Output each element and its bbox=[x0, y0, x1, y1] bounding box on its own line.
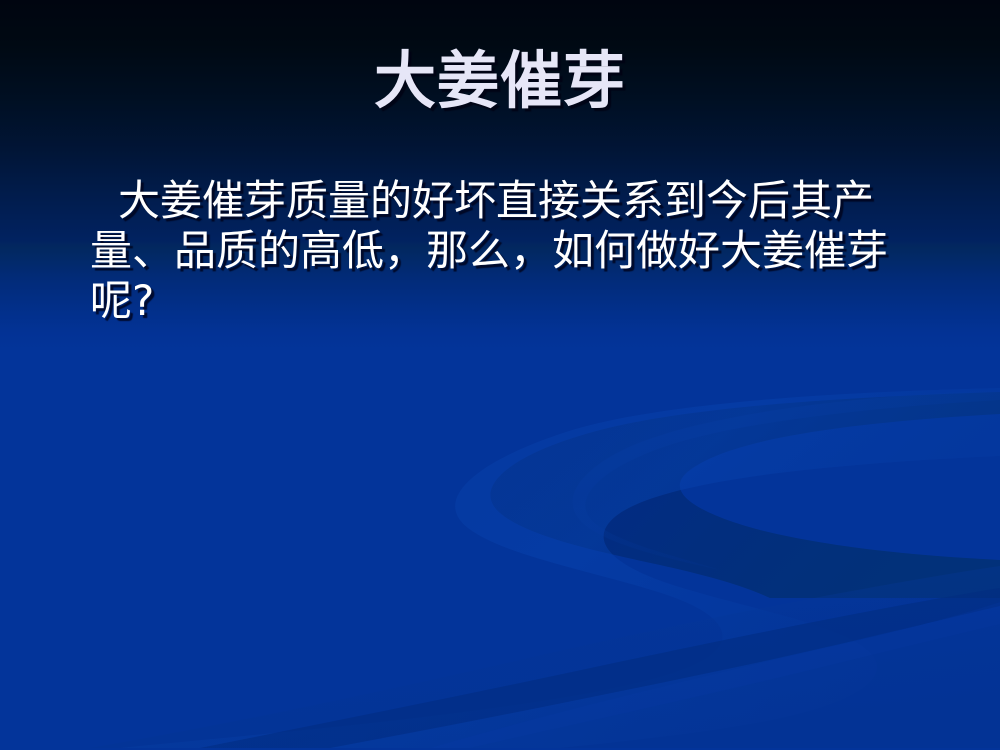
ribbon-highlight-sliver bbox=[430, 602, 1000, 748]
ribbon-lower-edge bbox=[200, 588, 1000, 748]
slide-body-paragraph: 大姜催芽质量的好坏直接关系到今后其产量、品质的高低，那么，如何做好大姜催芽呢? bbox=[90, 176, 920, 326]
slide-title-placeholder: 大姜催芽 bbox=[60, 48, 940, 113]
ribbon-upper-sweep bbox=[490, 392, 1000, 598]
ribbon-left-scurve bbox=[120, 388, 1000, 748]
slide-body-placeholder: 大姜催芽质量的好坏直接关系到今后其产量、品质的高低，那么，如何做好大姜催芽呢? bbox=[90, 176, 920, 326]
ribbon-lower-band bbox=[90, 566, 1000, 748]
slide-title: 大姜催芽 bbox=[374, 48, 626, 113]
slide-canvas: 大姜催芽 大姜催芽质量的好坏直接关系到今后其产量、品质的高低，那么，如何做好大姜… bbox=[0, 0, 1000, 750]
ribbon-upper-hook bbox=[573, 390, 1000, 570]
